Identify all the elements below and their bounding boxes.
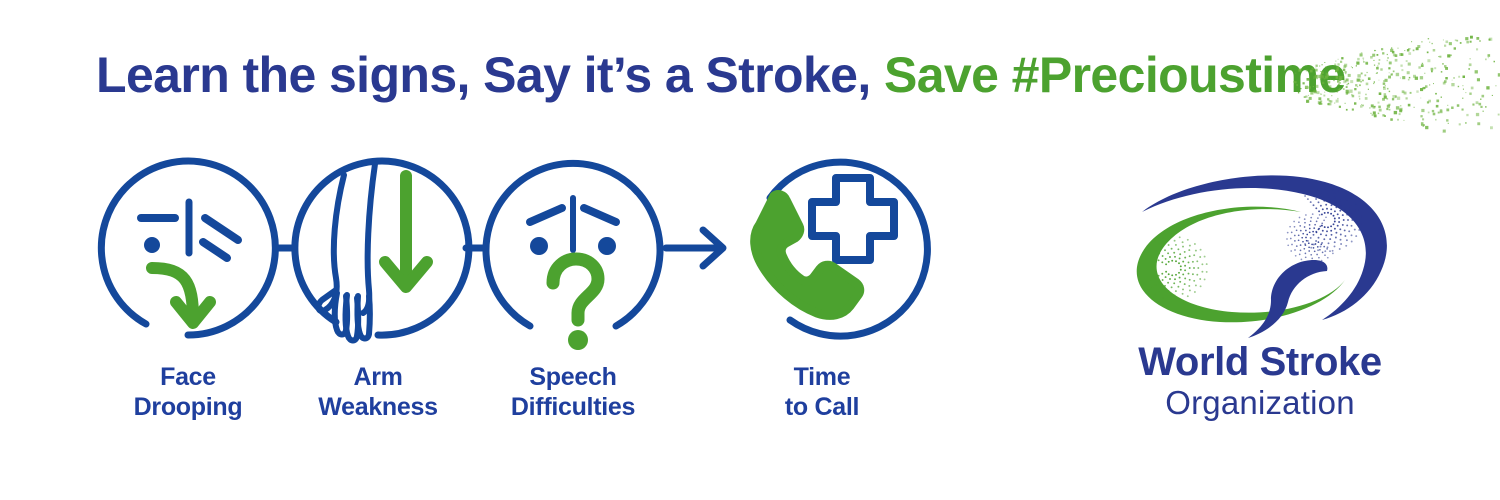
label-line-1: Time <box>794 363 851 391</box>
label-time-to-call: Time to Call <box>732 362 912 422</box>
headline-part-blue: Learn the signs, Say it’s a Stroke, <box>96 47 884 103</box>
logo-word-line-1: World Stroke <box>1095 340 1425 384</box>
label-line-1: Face <box>160 363 216 391</box>
world-stroke-organization-logo: World Stroke Organization <box>1095 168 1425 438</box>
headline-part-green: Save #Precioustime <box>884 47 1346 103</box>
logo-wordmark: World Stroke Organization <box>1095 340 1425 422</box>
logo-blue-hook <box>1248 260 1327 338</box>
label-line-2: Drooping <box>98 392 278 422</box>
label-speech-difficulties: Speech Difficulties <box>483 362 663 422</box>
arm-weakness-icon <box>295 161 469 340</box>
label-line-1: Arm <box>353 363 402 391</box>
poster-canvas: Learn the signs, Say it’s a Stroke, Save… <box>0 0 1500 500</box>
arrow-icon <box>666 230 723 266</box>
stroke-signs-icon-row <box>0 150 960 360</box>
label-line-2: to Call <box>732 392 912 422</box>
logo-mark-icon <box>1095 168 1425 343</box>
time-to-call-icon <box>755 162 928 336</box>
label-line-2: Weakness <box>288 392 468 422</box>
label-line-2: Difficulties <box>483 392 663 422</box>
label-face-drooping: Face Drooping <box>98 362 278 422</box>
speech-difficulties-icon <box>486 163 660 350</box>
label-line-1: Speech <box>529 363 616 391</box>
face-drooping-icon <box>101 161 275 335</box>
icon-labels: Face Drooping Arm Weakness Speech Diffic… <box>0 362 960 442</box>
page-title: Learn the signs, Say it’s a Stroke, Save… <box>96 44 1346 106</box>
label-arm-weakness: Arm Weakness <box>288 362 468 422</box>
logo-word-line-2: Organization <box>1095 384 1425 422</box>
